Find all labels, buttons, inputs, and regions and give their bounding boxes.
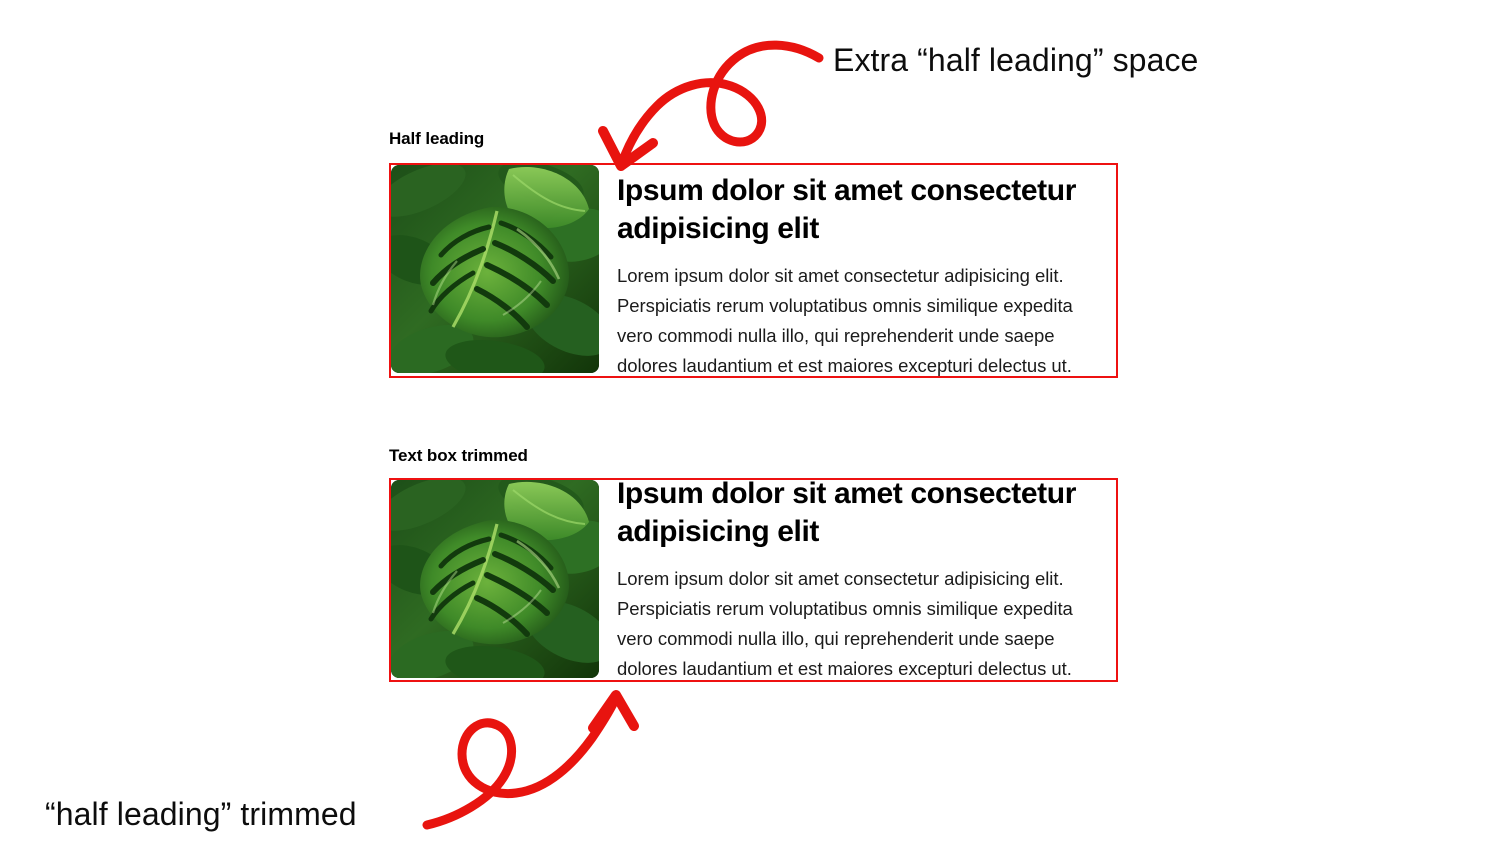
annotation-extra-half-leading: Extra “half leading” space (833, 42, 1198, 79)
curly-arrow-up-right-icon (427, 695, 634, 825)
curly-arrow-down-left-icon (603, 45, 819, 166)
monstera-leaves-photo (391, 165, 599, 373)
card-image-trimmed (391, 480, 599, 678)
annotation-half-leading-trimmed: “half leading” trimmed (45, 796, 357, 833)
card-text-box-trimmed: Ipsum dolor sit amet consectetur adipisi… (389, 478, 1118, 682)
card-body-trimmed: Ipsum dolor sit amet consectetur adipisi… (599, 480, 1116, 682)
card-paragraph: Lorem ipsum dolor sit amet consectetur a… (617, 261, 1106, 378)
card-title: Ipsum dolor sit amet consectetur adipisi… (617, 172, 1106, 248)
canvas: Extra “half leading” space Half leading (0, 0, 1507, 863)
card-image-half-leading (391, 165, 599, 373)
arrow-overlay (0, 0, 1507, 863)
card-paragraph: Lorem ipsum dolor sit amet consectetur a… (617, 564, 1106, 682)
card-title: Ipsum dolor sit amet consectetur adipisi… (617, 478, 1106, 551)
section-label-half-leading: Half leading (389, 129, 484, 149)
card-half-leading: Ipsum dolor sit amet consectetur adipisi… (389, 163, 1118, 378)
monstera-leaves-photo (391, 480, 599, 678)
card-body-half-leading: Ipsum dolor sit amet consectetur adipisi… (599, 165, 1116, 378)
section-label-text-box-trimmed: Text box trimmed (389, 446, 528, 466)
